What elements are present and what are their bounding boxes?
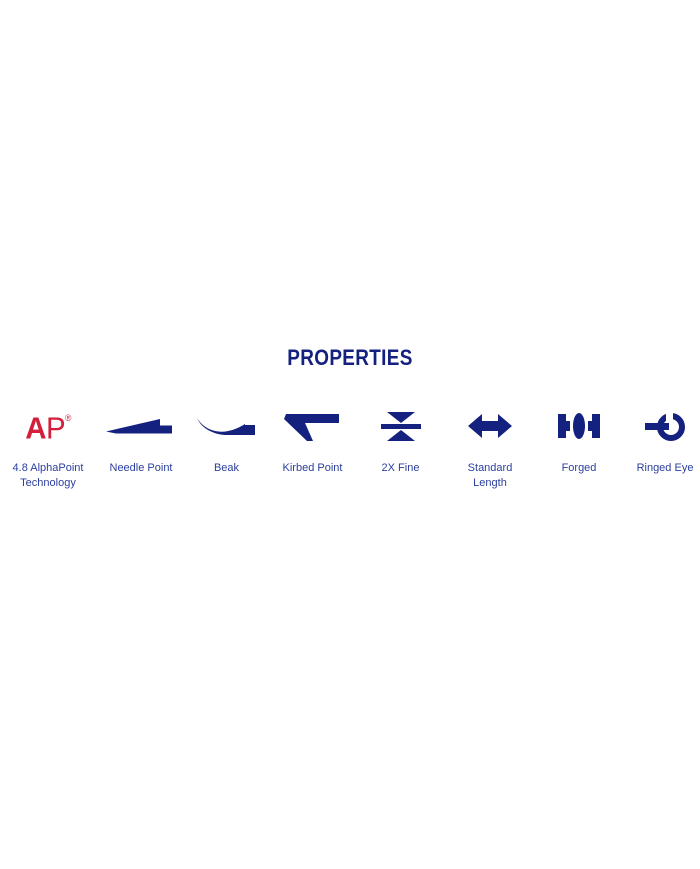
property-item-needle-point: Needle Point — [95, 400, 187, 476]
property-item-forged: Forged — [541, 400, 617, 476]
properties-panel: PROPERTIES AP® 4.8 AlphaPoint Technology… — [0, 0, 700, 869]
property-item-2x-fine: 2X Fine — [361, 400, 440, 476]
property-item-standard-length: Standard Length — [448, 400, 532, 490]
property-item-kirbed-point: Kirbed Point — [266, 400, 359, 476]
needle-point-icon — [95, 400, 187, 452]
property-label: 2X Fine — [382, 461, 420, 476]
two-x-fine-icon — [361, 400, 440, 452]
property-item-ringed-eye: Ringed Eye — [620, 400, 700, 476]
property-item-alphapoint: AP® 4.8 AlphaPoint Technology — [2, 400, 94, 490]
property-label: Standard Length — [460, 461, 520, 490]
property-label: Forged — [562, 461, 597, 476]
registered-trademark-icon: ® — [65, 413, 71, 423]
beak-icon — [187, 400, 266, 452]
properties-list: AP® 4.8 AlphaPoint Technology Needle Poi… — [0, 400, 700, 490]
ap-logo-letter-p: P — [46, 410, 65, 445]
forged-icon — [541, 400, 617, 452]
ap-logo-icon: AP® — [2, 400, 94, 452]
property-label: Beak — [214, 461, 239, 476]
ringed-eye-icon — [620, 400, 700, 452]
property-label: Needle Point — [110, 461, 173, 476]
property-label: Ringed Eye — [637, 461, 694, 476]
property-label: Kirbed Point — [283, 461, 343, 476]
kirbed-point-icon — [266, 400, 359, 452]
standard-length-icon — [448, 400, 532, 452]
property-item-beak: Beak — [187, 400, 266, 476]
page-title: PROPERTIES — [49, 345, 651, 371]
property-label: 4.8 AlphaPoint Technology — [5, 461, 91, 490]
ap-logo-letter-a: A — [25, 410, 46, 445]
